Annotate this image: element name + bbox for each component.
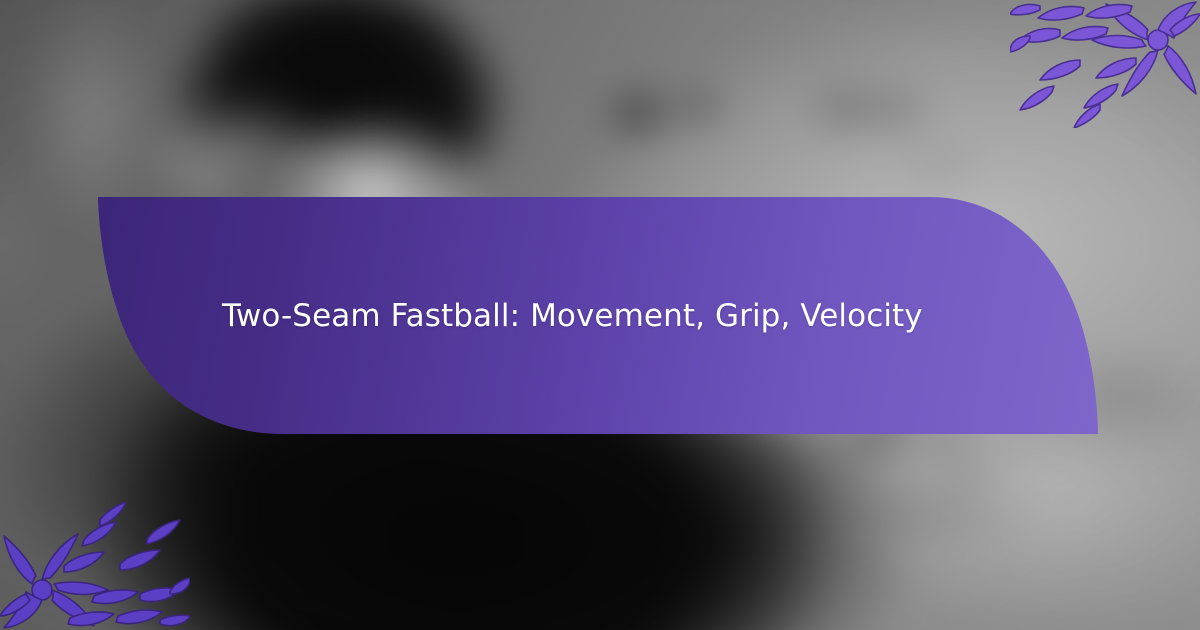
floral-corner-ornament-bottom-left [0,502,190,630]
page-title: Two-Seam Fastball: Movement, Grip, Veloc… [222,197,923,434]
title-banner: Two-Seam Fastball: Movement, Grip, Veloc… [98,197,1098,434]
floral-corner-ornament-top-right [1010,0,1200,128]
hero-banner-canvas: Two-Seam Fastball: Movement, Grip, Veloc… [0,0,1200,630]
